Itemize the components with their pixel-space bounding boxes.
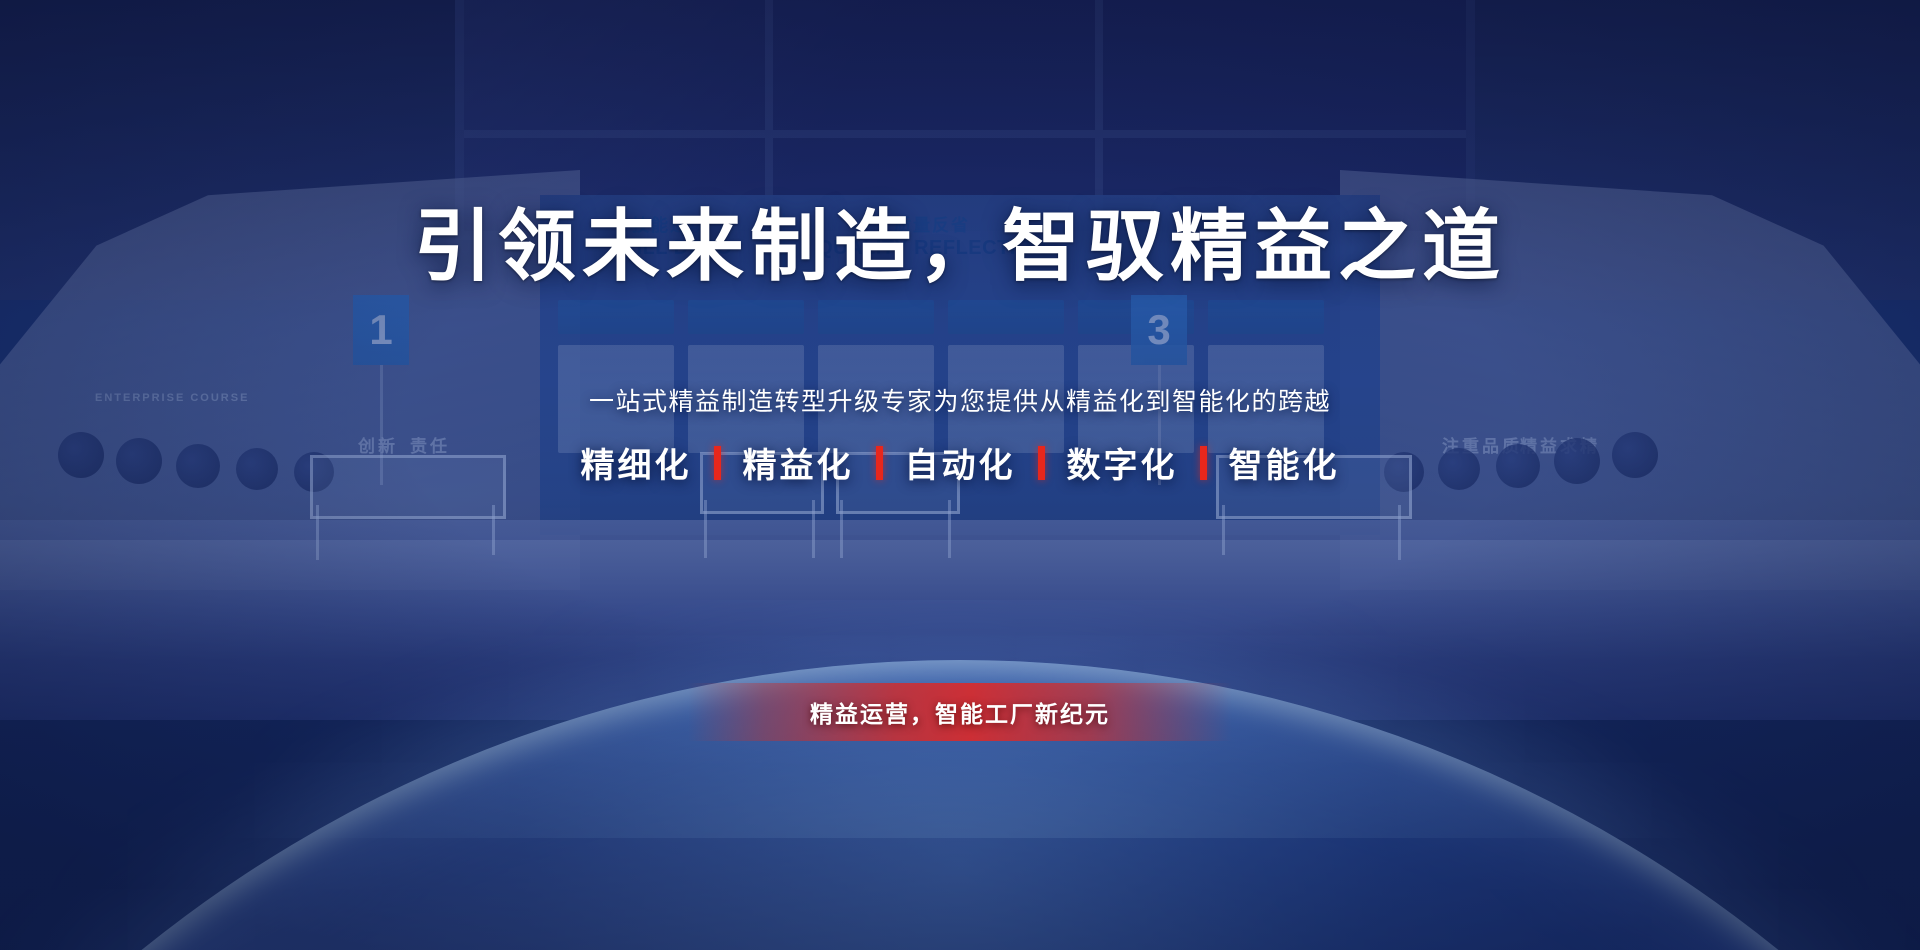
keyword-item: 智能化 — [1207, 438, 1362, 487]
keyword-separator-icon — [1200, 446, 1207, 480]
banner-content: 引领未来制造，智驭精益之道 一站式精益制造转型升级专家为您提供从精益化到智能化的… — [0, 0, 1920, 950]
keyword-item: 自动化 — [883, 438, 1038, 487]
banner-subtitle: 一站式精益制造转型升级专家为您提供从精益化到智能化的跨越 — [0, 382, 1920, 418]
status-badge: 精益运营，智能工厂新纪元 — [688, 683, 1232, 741]
keyword-separator-icon — [714, 446, 721, 480]
keyword-list: 精细化 精益化 自动化 数字化 智能化 — [0, 438, 1920, 487]
keyword-item: 数字化 — [1045, 438, 1200, 487]
status-badge-label: 精益运营，智能工厂新纪元 — [810, 695, 1110, 729]
banner-stage: 技能道场 SKILL DOJO 质量反省 QUALITY REFLECTION … — [0, 0, 1920, 950]
page-title: 引领未来制造，智驭精益之道 — [0, 184, 1920, 296]
keyword-separator-icon — [876, 446, 883, 480]
keyword-item: 精益化 — [721, 438, 876, 487]
keyword-separator-icon — [1038, 446, 1045, 480]
keyword-item: 精细化 — [559, 438, 714, 487]
